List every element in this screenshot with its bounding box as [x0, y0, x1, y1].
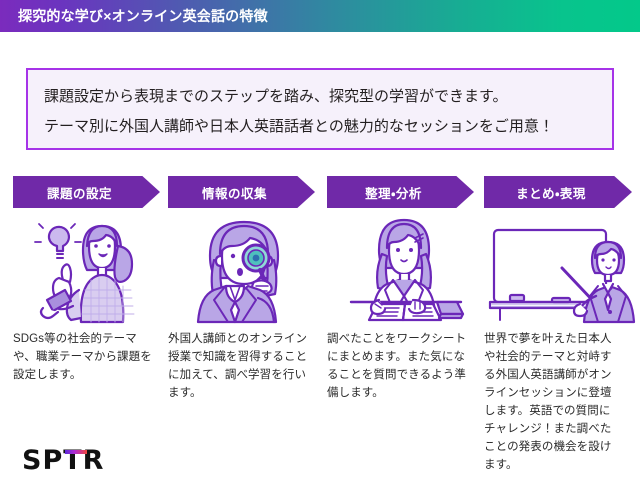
step-chevron-3[interactable]: 整理・分析: [327, 176, 474, 208]
step-label-2: 情報の収集: [202, 183, 281, 202]
page-title: 探究的な学び×オンライン英会話の特徴: [18, 0, 268, 32]
lead-line-1: 課題設定から表現までのステップを踏み、探究型の学習ができます。: [44, 82, 596, 112]
step-chevron-1[interactable]: 課題の設定: [13, 176, 160, 208]
step-chevron-4[interactable]: まとめ・表現: [484, 176, 632, 208]
presenter-at-whiteboard-icon: [484, 216, 636, 324]
student-writing-at-desk-icon: [327, 216, 479, 324]
brand-logo-accent-bar: [65, 450, 87, 454]
step-column-1: 課題の設定: [13, 176, 165, 384]
step-body-1: SDGs等の社会的テーマや、職業テーマから課題を設定します。: [13, 330, 153, 384]
lead-line-2: テーマ別に外国人講師や日本人英語話者との魅力的なセッションをご用意！: [44, 112, 596, 142]
step-body-4: 世界で夢を叶えた日本人や社会的テーマと対峙する外国人英語講師がオンラインセッショ…: [484, 330, 620, 474]
brand-logo-text: SPTR: [22, 445, 104, 476]
step-body-2: 外国人講師とのオンライン授業で知識を習得することに加えて、調べ学習を行います。: [168, 330, 308, 402]
step-label-4: まとめ・表現: [516, 183, 600, 202]
step-column-4: まとめ・表現: [484, 176, 636, 474]
lead-copy-box: 課題設定から表現までのステップを踏み、探究型の学習ができます。 テーマ別に外国人…: [26, 68, 614, 150]
step-body-3: 調べたことをワークシートにまとめます。また気になることを質問できるよう準備します…: [327, 330, 467, 402]
step-label-3: 整理・分析: [365, 183, 436, 202]
step-column-3: 整理・分析: [327, 176, 479, 402]
step-label-1: 課題の設定: [47, 183, 126, 202]
header-bar: 探究的な学び×オンライン英会話の特徴: [0, 0, 640, 32]
brand-logo[interactable]: SPTR: [22, 447, 104, 475]
step-chevron-2[interactable]: 情報の収集: [168, 176, 315, 208]
woman-with-magnifying-glass-icon: [168, 216, 320, 324]
woman-with-lightbulb-and-smartphone-icon: [13, 216, 165, 324]
step-column-2: 情報の収集: [168, 176, 320, 402]
